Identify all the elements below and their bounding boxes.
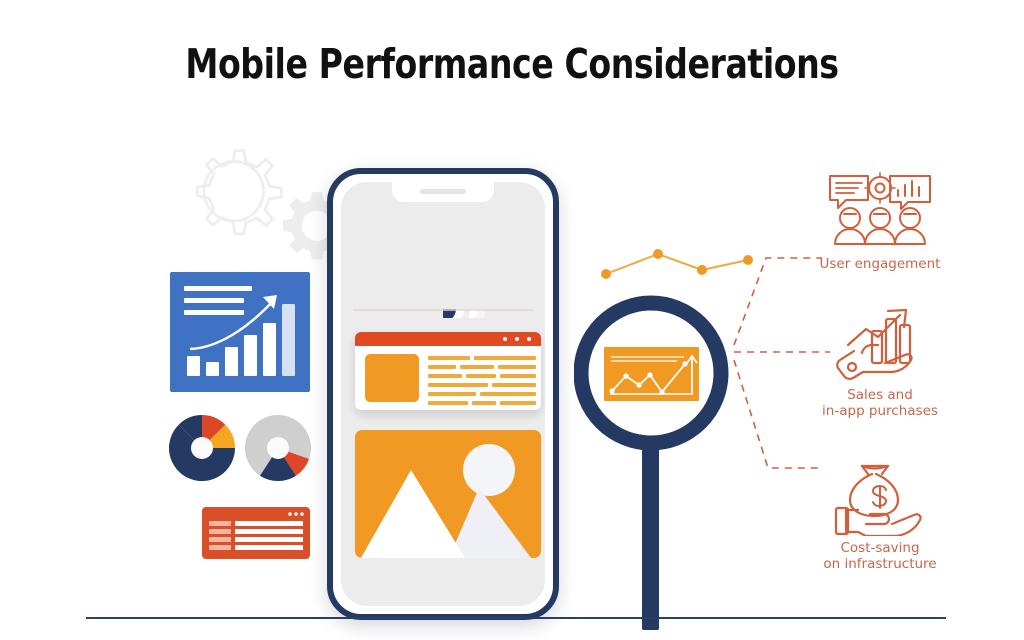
gear-outline-large-icon [168,128,292,252]
hand-money-bag-icon [828,460,932,536]
hand-growth-bars-icon [826,305,934,383]
magnifying-glass [574,290,744,635]
window-dot-icon [503,337,507,341]
right-item-sales-in-app-purchases[interactable]: Sales and in-app purchases [775,305,985,419]
people-analytics-icon [824,168,936,252]
phone-speaker [420,189,466,194]
right-item-label: Cost-saving on infrastructure [775,540,985,572]
mountain-shape-back [449,488,531,558]
growth-bar-chart-card [170,272,310,392]
donut-chart-left [169,415,235,481]
ground-line [86,617,946,619]
right-item-label: User engagement [775,256,985,272]
right-item-user-engagement[interactable]: User engagement [775,168,985,272]
right-item-cost-saving-infrastructure[interactable]: Cost-saving on infrastructure [775,460,985,572]
mountain-shape-front [361,470,465,558]
right-item-label-line2: on infrastructure [823,556,936,572]
window-dot-icon [527,337,531,341]
phone-notch [392,182,494,202]
mobile-device-mockup [327,168,559,620]
right-item-label-line1: Cost-saving [840,540,919,556]
sun-shape [463,444,515,496]
page-title: Mobile Performance Considerations [51,40,973,88]
bar-chart-svg [170,272,310,392]
line-chart-analytics [604,347,699,401]
article-preview-card [355,332,541,410]
performance-gauge [345,210,541,323]
donut-chart-right [245,415,311,481]
article-card-titlebar [355,332,541,346]
image-placeholder-card [355,430,541,558]
right-item-label-line2: in-app purchases [822,403,938,419]
donut-charts-group [168,410,314,482]
article-thumbnail [365,354,419,402]
right-item-label-line1: Sales and [847,387,913,403]
data-table-card [202,507,310,559]
right-item-label: Sales and in-app purchases [775,387,985,419]
window-dot-icon [515,337,519,341]
illustration-canvas: Mobile Performance Considerations [0,0,1024,640]
phone-screen [341,182,545,606]
